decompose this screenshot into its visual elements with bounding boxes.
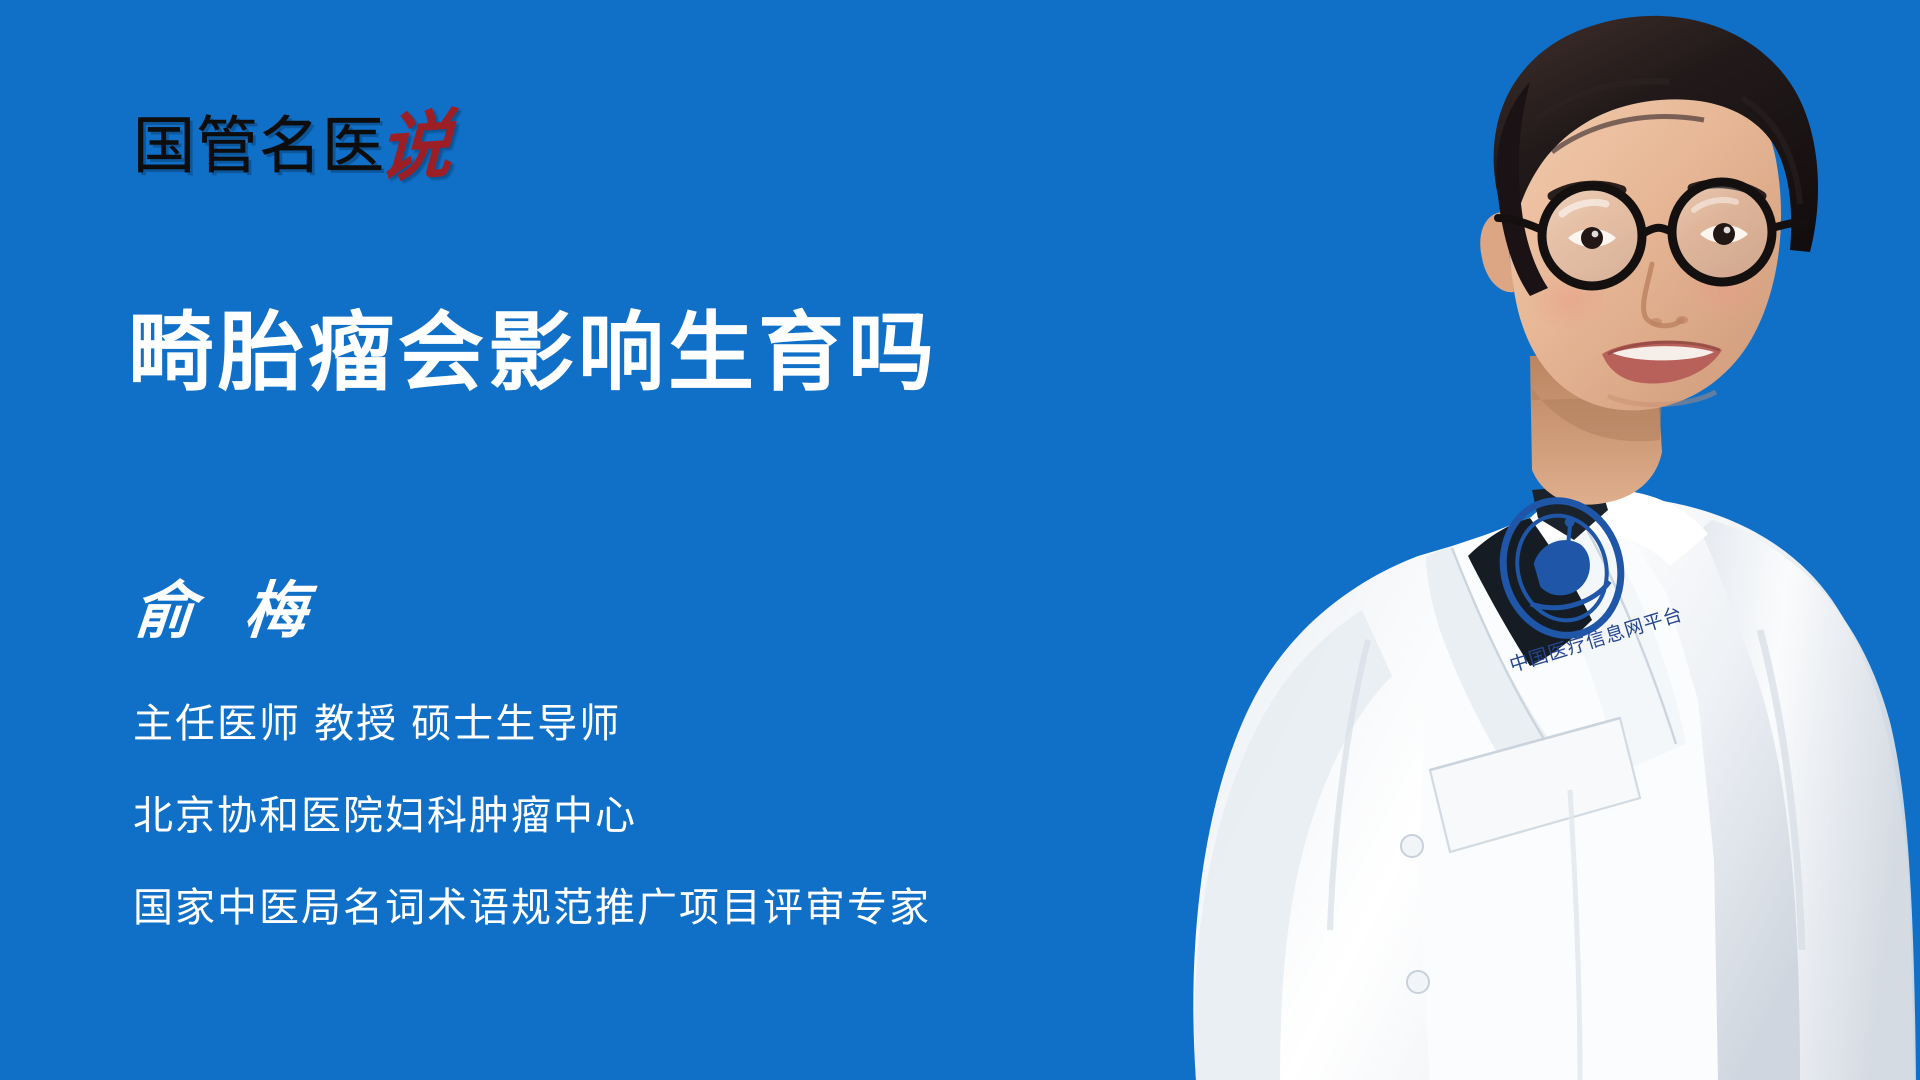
brand-logo-accent: 说 [377,110,453,184]
credential-line-expert-role: 国家中医局名词术语规范推广项目评审专家 [133,888,931,928]
brand-logo-main: 国管名医 [133,116,385,178]
eyeglasses [1498,182,1804,286]
inner-top [1468,484,1608,666]
doctor-name: 俞 梅 [130,580,933,642]
doctor-head [1480,16,1818,411]
episode-title: 畸胎瘤会影响生育吗 [128,310,938,396]
brand-logo: 国管名医 说 [133,92,451,178]
coat-badge [1488,487,1637,650]
neck [1530,352,1662,505]
lab-coat [1193,490,1916,1080]
credential-line-affiliation: 北京协和医院妇科肿瘤中心 [133,796,931,836]
svg-text:中国医疗信息网平台: 中国医疗信息网平台 [1507,603,1686,677]
poster-canvas: 中国医疗信息网平台 国管名医 说 畸胎瘤会影响生育吗 俞 梅 主任医师 教授 硕… [0,0,1920,1080]
doctor-portrait: 中国医疗信息网平台 [1100,0,1920,1080]
doctor-credentials: 主任医师 教授 硕士生导师 北京协和医院妇科肿瘤中心 国家中医局名词术语规范推广… [133,704,931,928]
coat-badge-text: 中国医疗信息网平台 [1507,603,1686,677]
credential-line-titles: 主任医师 教授 硕士生导师 [133,704,931,744]
doctor-info-block: 俞 梅 主任医师 教授 硕士生导师 北京协和医院妇科肿瘤中心 国家中医局名词术语… [133,580,931,928]
